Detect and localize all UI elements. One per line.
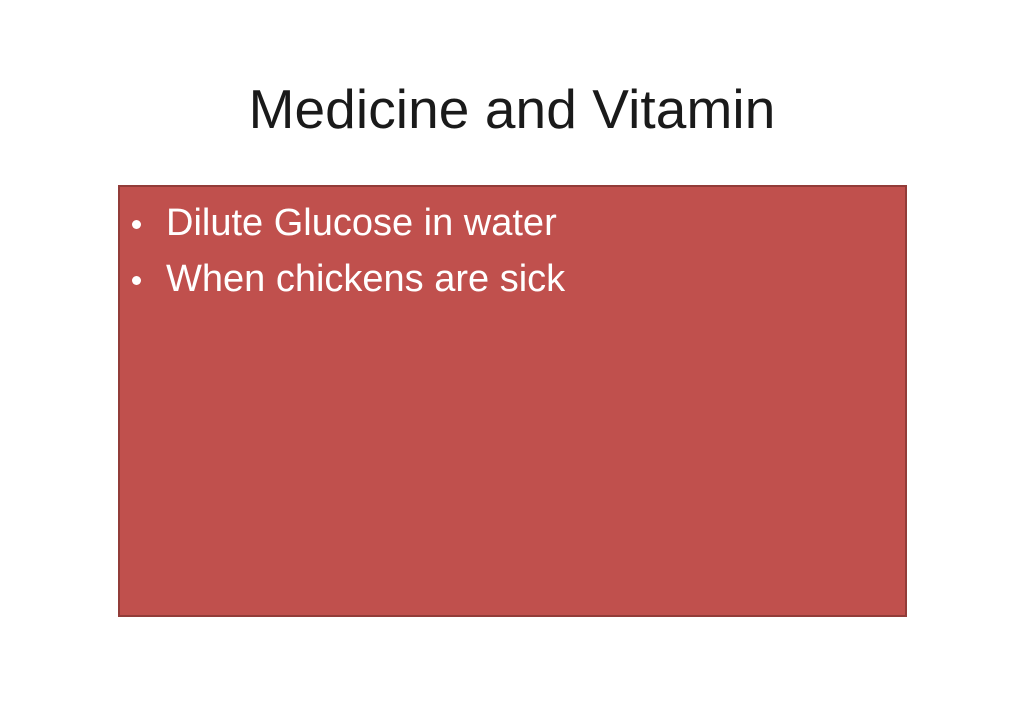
list-item: When chickens are sick: [120, 257, 905, 301]
bullet-list: Dilute Glucose in water When chickens ar…: [120, 187, 905, 301]
list-item: Dilute Glucose in water: [120, 201, 905, 245]
slide-canvas: Medicine and Vitamin Dilute Glucose in w…: [0, 0, 1024, 724]
list-item-label: When chickens are sick: [166, 257, 565, 301]
page-title: Medicine and Vitamin: [0, 78, 1024, 140]
content-placeholder-box: Dilute Glucose in water When chickens ar…: [118, 185, 907, 617]
bullet-dot-icon: [132, 276, 141, 285]
bullet-dot-icon: [132, 220, 141, 229]
list-item-label: Dilute Glucose in water: [166, 201, 557, 245]
